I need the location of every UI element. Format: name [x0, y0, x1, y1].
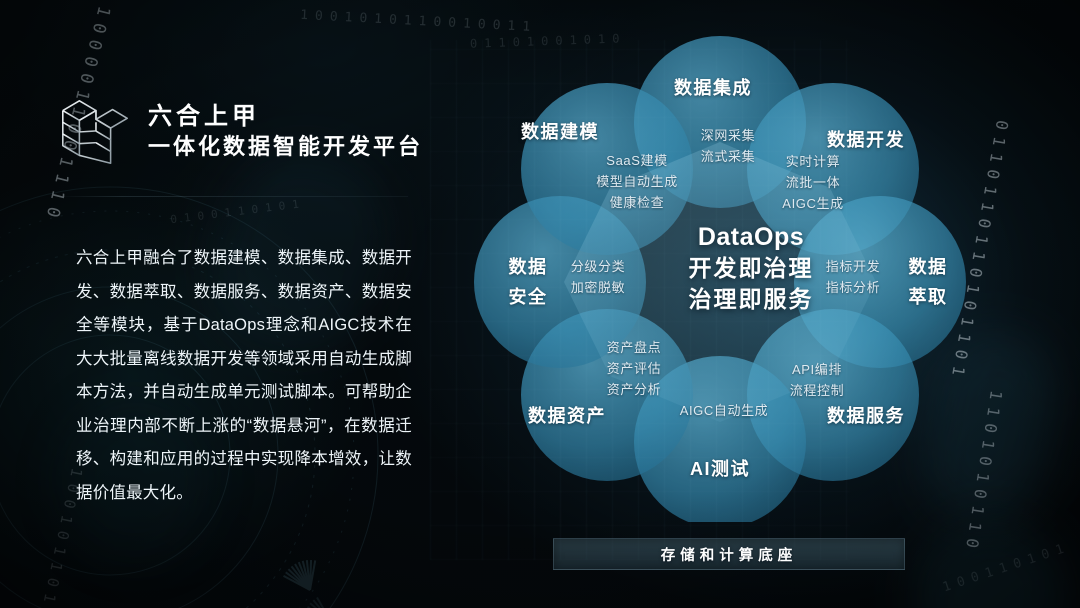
storage-compute-foundation-bar[interactable]: 存储和计算底座 [553, 538, 905, 570]
slide-canvas: 01000011001110 1001011010 01101101101011… [0, 0, 1080, 608]
product-description: 六合上甲融合了数据建模、数据集成、数据开发、数据萃取、数据服务、数据资产、数据安… [76, 242, 412, 510]
brand-name: 六合上甲 [148, 102, 423, 133]
center-title-cn-2: 治理即服务 [636, 284, 866, 315]
brand-text: 六合上甲 一体化数据智能开发平台 [148, 102, 423, 161]
center-title-cn-1: 开发即治理 [636, 253, 866, 284]
left-info-panel: 六合上甲 一体化数据智能开发平台 六合上甲融合了数据建模、数据集成、数据开发、数… [0, 0, 470, 608]
brand-block: 六合上甲 一体化数据智能开发平台 [58, 92, 423, 172]
diagram-center-block: DataOps 开发即治理 治理即服务 [636, 222, 866, 315]
brick-wall-logo-icon [58, 92, 132, 172]
footer-bar-label: 存储和计算底座 [661, 544, 798, 565]
brand-divider [58, 196, 408, 197]
brand-tagline: 一体化数据智能开发平台 [148, 133, 423, 162]
center-title-en: DataOps [636, 222, 866, 253]
